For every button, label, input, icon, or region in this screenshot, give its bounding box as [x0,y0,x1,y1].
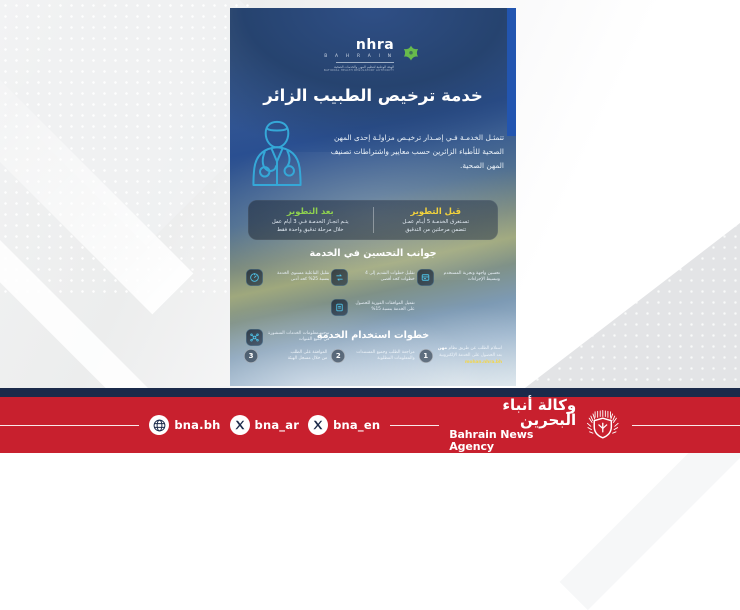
steps-arrow-icon [331,269,348,286]
step-1-system-name: مهن [438,346,447,351]
step-number: 1 [419,349,433,363]
step-item-2: 2 مراجعة الطلب وجميع المستندات والمعلوما… [331,346,414,366]
improvement-text: تحسين واجهة وتجربة المستخدم وتبسيط الإجر… [438,271,500,284]
step-2-line2: والمعلومات المطلوبة [377,356,414,361]
improvement-text: تقليل الفاعلية مستوى الخدمة بنسبة 25% كح… [267,271,329,284]
improvement-text: تفعيل الموافقات الفورية للحصول على الخدم… [352,301,414,314]
step-1-url[interactable]: mohan.nhra.bh [437,360,502,367]
bna-brand-arabic: وكالة أنباء البحرين [449,398,576,430]
step-2-line1: مراجعة الطلب وجميع المستندات [356,350,414,355]
nhra-logo-subtitle: B A H R A I N [324,54,394,59]
social-label-x-arabic: bna_ar [255,418,300,432]
nhra-logo-text: nhra B A H R A I N الهيئة الوطنية لتنظيم… [324,38,394,72]
steps-grid: 1 استلام الطلب عن طريق نظام مهن بعد الحص… [244,346,502,366]
nhra-logo-wordmark: nhra [356,38,394,52]
social-link-website[interactable]: bna.bh [149,415,220,435]
step-3-line1: الموافقة على الطلب [290,350,327,355]
step-item-3: 3 الموافقة على الطلب من خلال مسجل الهيئة [244,346,327,366]
footer-socials: bna.bh bna_ar bn [149,415,380,435]
improvement-item: تقليل خطوات التقديم إلى 4 خطوات كحد أقصى [331,264,414,290]
x-twitter-icon [230,415,250,435]
database-icon [331,299,348,316]
footer-rule-right [632,425,740,426]
nhra-logo-divider [336,62,394,63]
social-label-website: bna.bh [174,418,220,432]
after-development-body: يتـم انجـاز الخدمـة فـي 3 أيام عمل خلال … [272,218,349,234]
step-text: مراجعة الطلب وجميع المستندات والمعلومات … [349,350,414,363]
infographic-poster: nhra B A H R A I N الهيئة الوطنية لتنظيم… [230,8,516,386]
x-twitter-icon [308,415,328,435]
before-development-line2: تتضمن مرحلتين من التدقيق [402,226,469,234]
background-dot-pattern-bottom-right [510,198,740,388]
step-number: 2 [331,349,345,363]
footer-top-strip [0,388,740,397]
documents-icon [417,269,434,286]
improvement-item: تحسين واجهة وتجربة المستخدم وتبسيط الإجر… [417,264,500,290]
step-3-line2: من خلال مسجل الهيئة [288,356,328,361]
footer-rule-left [0,425,139,426]
footer-content: bna.bh bna_ar bn [0,397,740,453]
improvement-text: تقليل خطوات التقديم إلى 4 خطوات كحد أقصى [352,271,414,284]
after-development-cell: بعد التطوير يتـم انجـاز الخدمـة فـي 3 أي… [248,200,373,240]
bna-footer-bar: bna.bh bna_ar bn [0,388,740,453]
before-development-line1: تسـتغرق الخدمـة 5 أيـام عمـل [402,218,469,226]
improvement-item: تفعيل الموافقات الفورية للحصول على الخدم… [331,294,414,320]
step-number: 3 [244,349,258,363]
nhra-logo-english-name: NATIONAL HEALTH REGULATORY AUTHORITY [324,69,394,72]
social-link-x-english[interactable]: bna_en [308,415,380,435]
globe-icon [149,415,169,435]
screenshot-root: nhra B A H R A I N الهيئة الوطنية لتنظيم… [0,0,740,453]
poster-title: خدمة ترخيص الطبيب الزائر [230,86,516,105]
before-development-body: تسـتغرق الخدمـة 5 أيـام عمـل تتضمن مرحلت… [402,218,469,234]
after-development-line2: خلال مرحلة تدقيق واحدة فقط [272,226,349,234]
step-text: استلام الطلب عن طريق نظام مهن بعد الحصول… [437,346,502,366]
improvements-heading: جوانب التحسين في الخدمة [230,248,516,259]
intro-text: تتمثـل الخدمـة فـي إصـدار ترخيـص مزاولـة… [318,131,504,172]
bna-brand: وكالة أنباء البحرين Bahrain News Agency [449,398,622,453]
intro-section: تتمثـل الخدمـة فـي إصـدار ترخيـص مزاولـة… [244,116,504,188]
step-text: الموافقة على الطلب من خلال مسجل الهيئة [262,350,327,363]
after-development-heading: بعد التطوير [287,206,334,216]
improvement-item: تقليل الفاعلية مستوى الخدمة بنسبة 25% كح… [246,264,329,290]
bahrain-shield-icon [584,405,622,445]
step-1-text-after: بعد الحصول على الخدمة الإلكترونية [439,353,502,358]
doctor-icon [244,116,310,188]
after-development-line1: يتـم انجـاز الخدمـة فـي 3 أيام عمل [272,218,349,226]
bna-brand-english: Bahrain News Agency [449,429,576,452]
footer-rule-middle [390,425,439,426]
step-item-1: 1 استلام الطلب عن طريق نظام مهن بعد الحص… [419,346,502,366]
step-1-text-before: استلام الطلب عن طريق نظام [448,346,502,351]
nhra-logo: nhra B A H R A I N الهيئة الوطنية لتنظيم… [230,38,516,72]
comparison-panel: بعد التطوير يتـم انجـاز الخدمـة فـي 3 أي… [248,200,498,240]
bna-brand-text: وكالة أنباء البحرين Bahrain News Agency [449,398,576,453]
before-development-heading: قبل التطوير [411,206,462,216]
steps-heading: خطوات استخدام الخدمة [230,330,516,341]
speed-gauge-icon [246,269,263,286]
before-development-cell: قبل التطوير تسـتغرق الخدمـة 5 أيـام عمـل… [374,200,499,240]
social-link-x-arabic[interactable]: bna_ar [230,415,300,435]
flower-star-mark-icon [400,44,422,66]
social-label-x-english: bna_en [333,418,380,432]
